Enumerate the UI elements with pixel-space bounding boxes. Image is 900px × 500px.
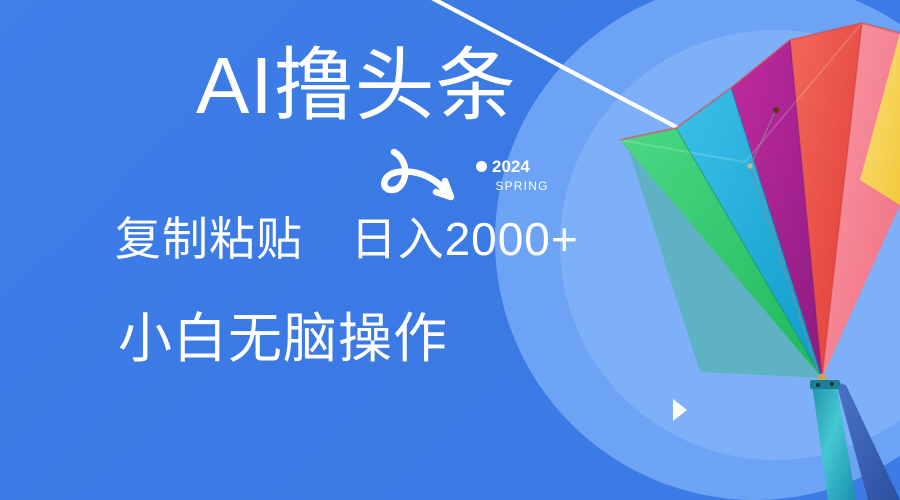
bullet-dot-icon <box>476 161 487 172</box>
poster-canvas: AI撸头条 2024 SPRING 复制粘贴 日入2000+ 小白无脑操作 <box>0 0 900 500</box>
play-triangle-icon <box>672 398 688 422</box>
badge-top-row: 2024 <box>476 158 556 175</box>
subtitle-line-1: 复制粘贴 日入2000+ <box>115 216 579 262</box>
subtitle-line-1-left: 复制粘贴 <box>115 213 303 265</box>
subtitle-line-1-right: 日入2000+ <box>351 213 579 265</box>
badge-year: 2024 <box>492 158 530 175</box>
subtitle-line-2: 小白无脑操作 <box>118 312 448 366</box>
page-title: AI撸头条 <box>196 46 517 126</box>
badge-season: SPRING <box>488 180 556 192</box>
status-badge: 2024 SPRING <box>476 158 556 192</box>
curly-arrow-icon <box>372 140 482 220</box>
